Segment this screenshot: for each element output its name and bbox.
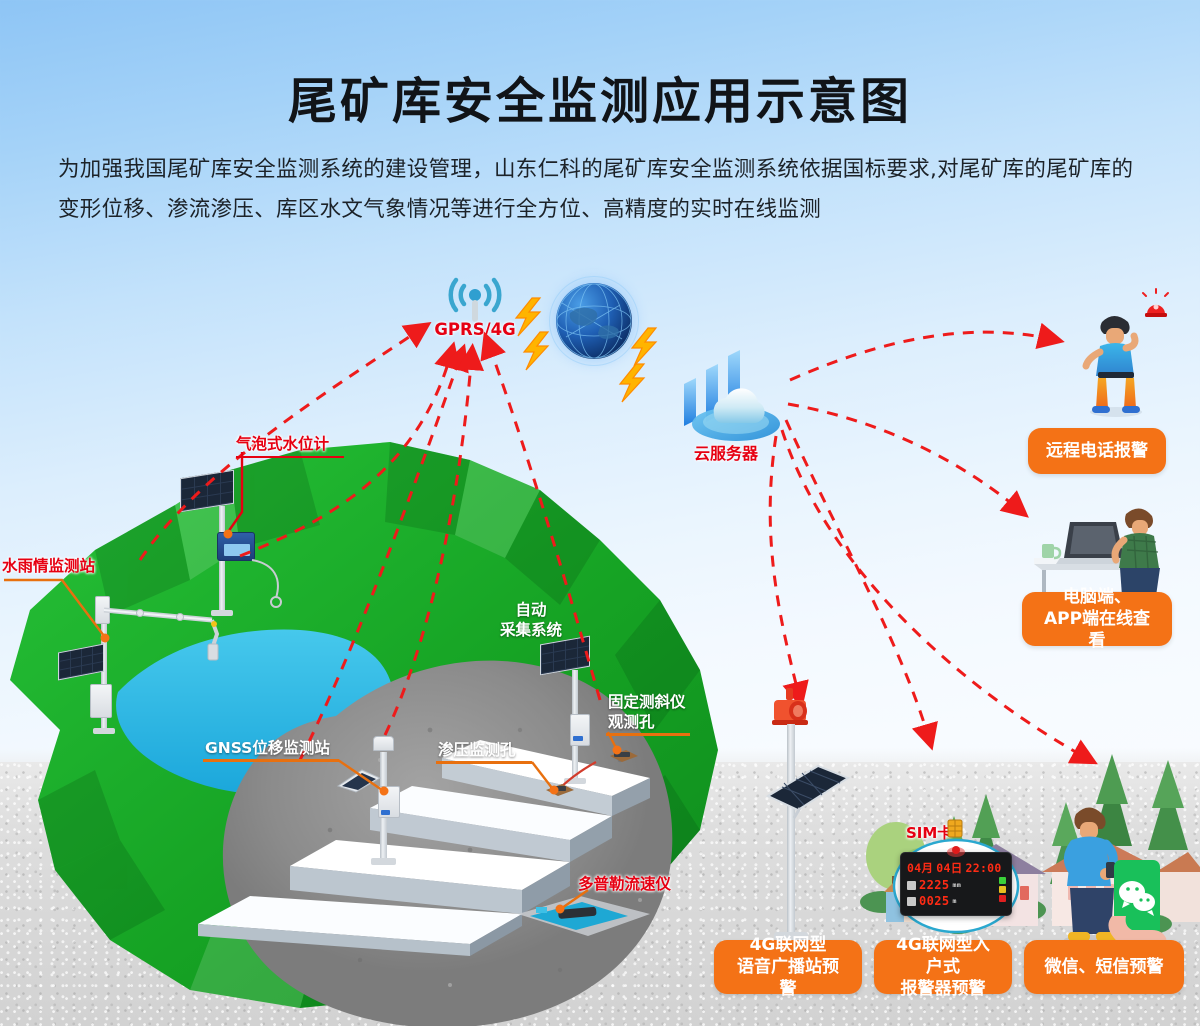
sensor-cable — [248, 556, 288, 618]
leader-inclinometer — [600, 730, 640, 760]
status-green — [999, 877, 1006, 884]
led-unit-2: m — [953, 897, 957, 905]
gprs-4g-label: GPRS/4G — [432, 320, 518, 339]
pole-base — [93, 728, 115, 734]
label-bubble-water-level-gauge: 气泡式水位计 — [236, 434, 329, 454]
label-seepage-pressure-hole: 渗压监测孔 — [438, 740, 516, 760]
label-fixed-inclinometer-hole: 固定测斜仪 观测孔 — [608, 692, 686, 732]
led-date-month: 04月 — [907, 860, 933, 876]
rainfall-icon — [907, 897, 916, 906]
diagram-canvas: 尾矿库安全监测应用示意图 为加强我国尾矿库安全监测系统的建设管理，山东仁科的尾矿… — [0, 0, 1200, 1026]
water-level-icon — [907, 881, 916, 890]
page-description: 为加强我国尾矿库安全监测系统的建设管理，山东仁科的尾矿库安全监测系统依据国标要求… — [58, 150, 1148, 230]
callout-pc-app-online-view[interactable]: 电脑端、 APP端在线查看 — [1022, 592, 1172, 646]
in-home-alarm-display[interactable]: 04月 04日 22:00 2225 mm 0025 m — [900, 852, 1012, 916]
alarm-indicator-icon — [945, 842, 969, 858]
led-status-bars — [999, 877, 1006, 902]
cloud-server-icon — [678, 348, 782, 444]
page-title: 尾矿库安全监测应用示意图 — [0, 62, 1200, 133]
pole-base — [371, 858, 396, 865]
led-unit-1: mm — [953, 881, 962, 889]
led-reading-2: 0025 — [919, 894, 950, 908]
underline-gnss — [203, 759, 339, 762]
person-phone-call-illustration — [1068, 304, 1164, 416]
underline-bubble-gauge — [236, 456, 344, 458]
callout-voice-broadcast-station[interactable]: 4G联网型 语音广播站预警 — [714, 940, 862, 994]
led-reading-1: 2225 — [919, 878, 950, 892]
callout-remote-phone-alarm[interactable]: 远程电话报警 — [1028, 428, 1166, 474]
underline-seepage — [436, 761, 532, 764]
label-hydrology-rainfall-station: 水雨情监测站 — [2, 556, 95, 576]
label-auto-acquisition-system: 自动 采集系统 — [490, 600, 572, 640]
status-red — [999, 895, 1006, 902]
solar-panel-icon — [764, 756, 848, 816]
status-yellow — [999, 886, 1006, 893]
lightning-bolt-icon — [518, 330, 578, 378]
leader-seepage — [530, 758, 580, 796]
leader-doppler — [548, 884, 596, 918]
callout-in-home-alarm[interactable]: 4G联网型入户式 报警器预警 — [874, 940, 1012, 994]
led-date-day: 04日 — [936, 860, 962, 876]
led-time: 22:00 — [966, 861, 1002, 875]
gnss-antenna — [373, 736, 394, 751]
callout-wechat-sms-alert[interactable]: 微信、短信预警 — [1024, 940, 1184, 994]
cloud-server-label: 云服务器 — [666, 440, 786, 464]
leader-hydrology-station — [0, 576, 130, 656]
controller-box — [90, 684, 112, 718]
lightning-bolt-icon — [614, 362, 674, 410]
leader-gnss — [336, 756, 408, 800]
label-gnss-displacement-station: GNSS位移监测站 — [205, 738, 330, 758]
